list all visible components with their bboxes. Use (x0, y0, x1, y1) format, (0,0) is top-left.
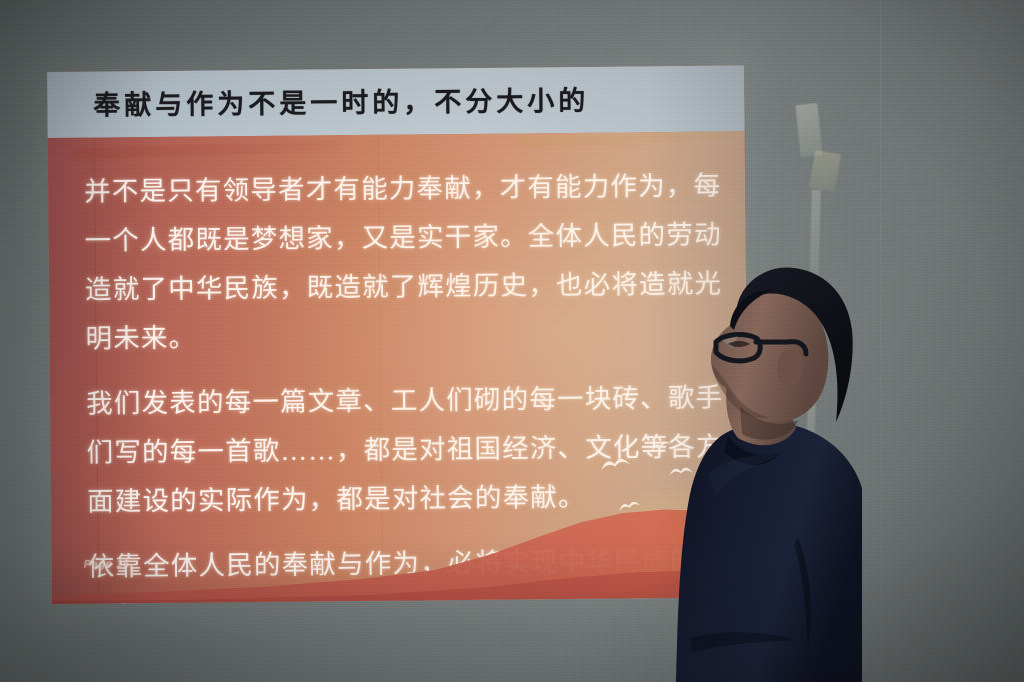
slide-title-band: 奉献与作为不是一时的，不分大小的 (47, 65, 745, 138)
slide-body-text: 并不是只有领导者才有能力奉献，才有能力作为，每一个人都既是梦想家，又是实干家。全… (84, 162, 728, 604)
wall-seam (880, 0, 882, 682)
slide: 奉献与作为不是一时的，不分大小的 并不是只有领导者才有能力奉献，才有能力作为，每… (47, 65, 749, 604)
slide-title: 奉献与作为不是一时的，不分大小的 (93, 79, 589, 123)
wall-scuff (74, 141, 342, 159)
projection-area: 奉献与作为不是一时的，不分大小的 并不是只有领导者才有能力奉献，才有能力作为，每… (47, 65, 749, 604)
slide-paragraph: 依靠全体人民的奉献与作为，必将实现中华民族的伟大复兴。 (88, 536, 728, 603)
slide-paragraph: 并不是只有领导者才有能力奉献，才有能力作为，每一个人都既是梦想家，又是实干家。全… (84, 162, 725, 364)
wall-scuff (518, 131, 748, 147)
slide-paragraph: 我们发表的每一篇文章、工人们砌的每一块砖、歌手们写的每一首歌……，都是对祖国经济… (86, 374, 726, 527)
slide-body: 并不是只有领导者才有能力奉献，才有能力作为，每一个人都既是梦想家，又是实干家。全… (48, 131, 749, 604)
projected-slide-photo: 奉献与作为不是一时的，不分大小的 并不是只有领导者才有能力奉献，才有能力作为，每… (0, 0, 1024, 682)
slide-page-number: Page 16 (84, 558, 130, 570)
